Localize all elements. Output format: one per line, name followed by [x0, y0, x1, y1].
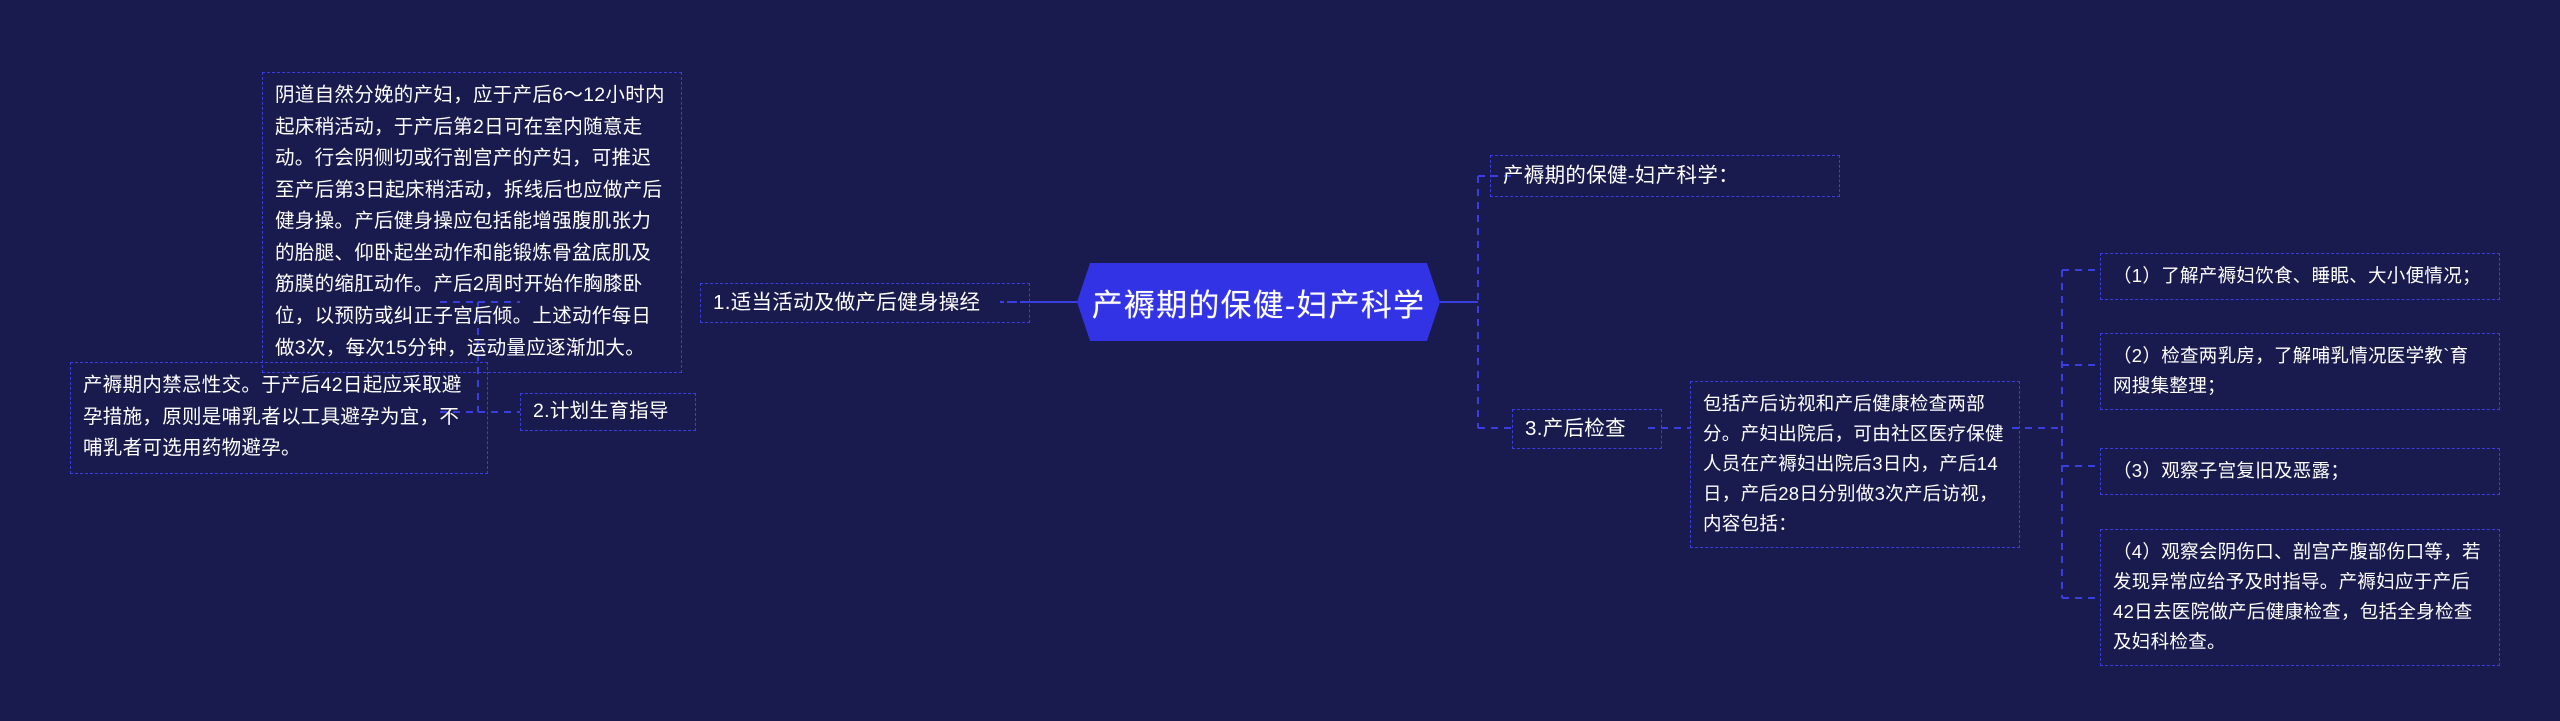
branch-2-label[interactable]: 2.计划生育指导	[520, 393, 696, 431]
branch-3-point-1: （1）了解产褥妇饮食、睡眠、大小便情况；	[2100, 253, 2500, 300]
branch-3-point-4: （4）观察会阴伤口、剖宫产腹部伤口等，若发现异常应给予及时指导。产褥妇应于产后4…	[2100, 529, 2500, 666]
branch-3-point-2: （2）检查两乳房，了解哺乳情况医学教`育网搜集整理；	[2100, 333, 2500, 410]
branch-1-detail: 阴道自然分娩的产妇，应于产后6～12小时内起床稍活动，于产后第2日可在室内随意走…	[262, 72, 682, 373]
right-branch-title[interactable]: 产褥期的保健-妇产科学：	[1490, 155, 1840, 197]
branch-3-detail: 包括产后访视和产后健康检查两部分。产妇出院后，可由社区医疗保健人员在产褥妇出院后…	[1690, 381, 2020, 548]
branch-3-label[interactable]: 3.产后检查	[1512, 409, 1662, 449]
branch-1-label[interactable]: 1.适当活动及做产后健身操经	[700, 283, 1030, 323]
central-topic[interactable]: 产褥期的保健-妇产科学	[1077, 263, 1440, 341]
branch-3-point-3: （3）观察子宫复旧及恶露；	[2100, 448, 2500, 495]
branch-2-detail: 产褥期内禁忌性交。于产后42日起应采取避孕措施，原则是哺乳者以工具避孕为宜，不哺…	[70, 362, 488, 474]
mindmap-canvas: 阴道自然分娩的产妇，应于产后6～12小时内起床稍活动，于产后第2日可在室内随意走…	[0, 0, 2560, 721]
